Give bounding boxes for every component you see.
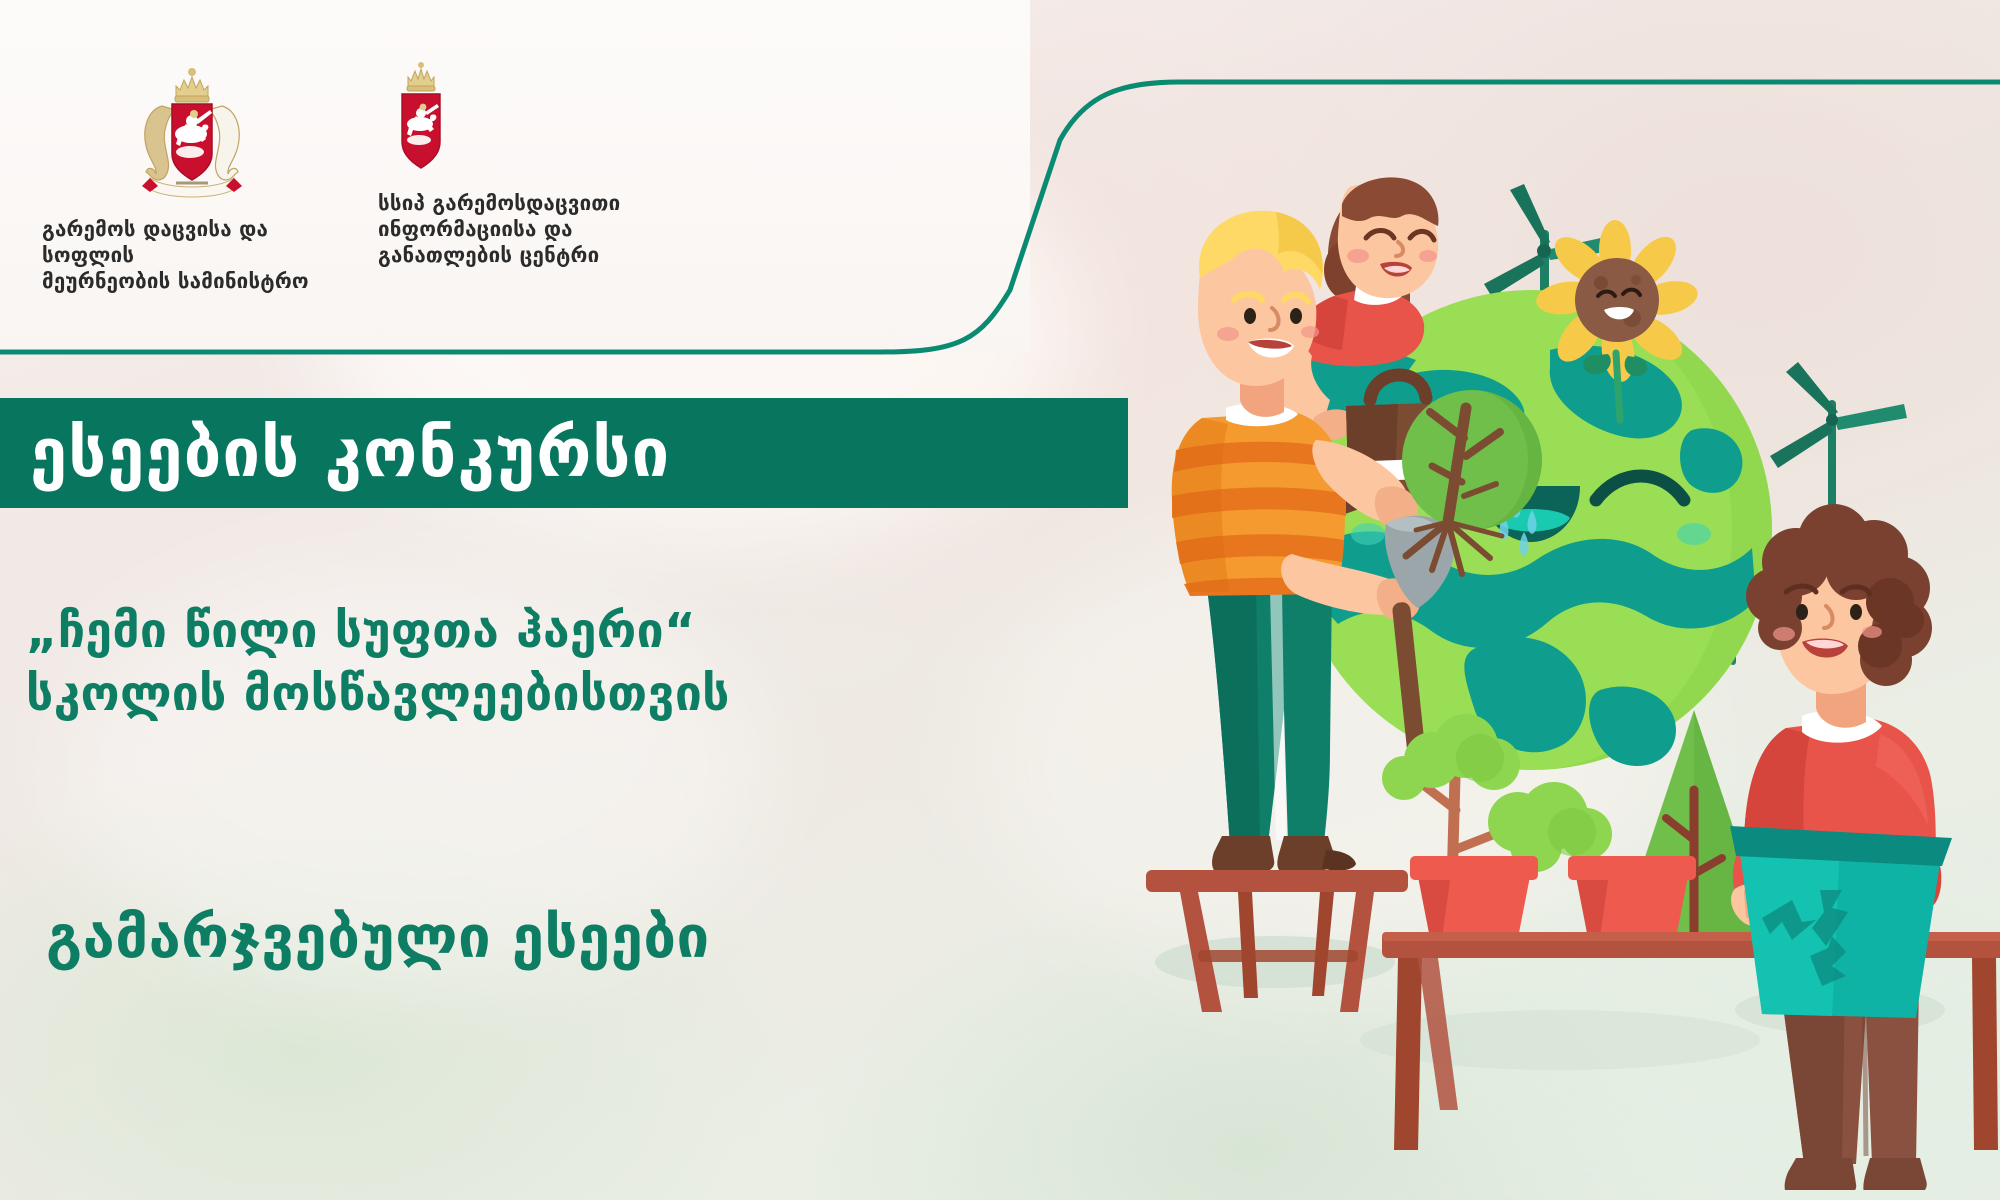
caption-line: გარემოს დაცვისა და სოფლის (42, 216, 342, 268)
subtitle-line-1: „ჩემი წილი სუფთა ჰაერი“ (26, 603, 696, 659)
caption-line: მეურნეობის სამინისტრო (42, 268, 342, 294)
poster-root: გარემოს დაცვისა და სოფლის მეურნეობის სამ… (0, 0, 2000, 1200)
georgia-shield-crown-icon (390, 58, 452, 176)
logo-ministry-caption: გარემოს დაცვისა და სოფლის მეურნეობის სამ… (42, 216, 342, 295)
kids-planting-earth-illustration-icon (1080, 150, 2000, 1190)
subtitle: „ჩემი წილი სუფთა ჰაერი“ სკოლის მოსწავლეე… (26, 600, 1106, 727)
caption-line: განათლების ცენტრი (378, 242, 668, 268)
logo-center: სსიპ გარემოსდაცვითი ინფორმაციისა და განა… (378, 58, 668, 269)
caption-line: ინფორმაციისა და (378, 216, 668, 242)
logo-ministry: გარემოს დაცვისა და სოფლის მეურნეობის სამ… (42, 62, 342, 295)
georgia-coat-of-arms-full-icon (132, 62, 252, 202)
logo-center-caption: სსიპ გარემოსდაცვითი ინფორმაციისა და განა… (378, 190, 668, 269)
logo-group: გარემოს დაცვისა და სოფლის მეურნეობის სამ… (0, 52, 1000, 292)
illustration (1080, 150, 2000, 1190)
potted-plants-icon (1410, 856, 1696, 938)
subtitle-line-2: სკოლის მოსწავლეებისთვის (26, 663, 1106, 726)
caption-line: სსიპ გარემოსდაცვითი (378, 190, 668, 216)
winners-label: გამარჯვებული ესეები (46, 908, 710, 966)
recycling-bin-icon (1730, 826, 1952, 1018)
page-title: ესეების კონკურსი (0, 420, 670, 487)
title-banner: ესეების კონკურსი (0, 398, 1128, 508)
